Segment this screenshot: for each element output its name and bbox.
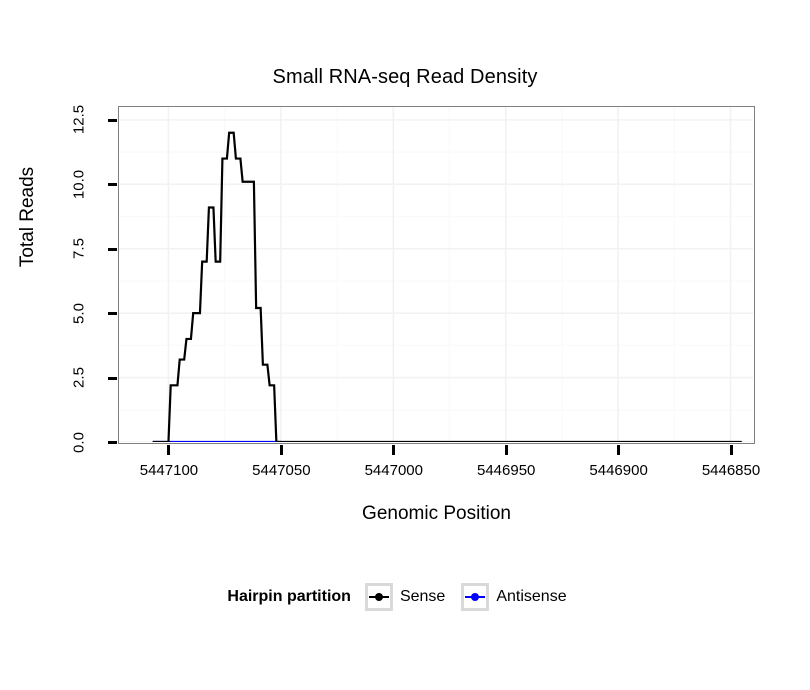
- chart-figure: Small RNA-seq Read Density Total Reads 0…: [0, 0, 810, 690]
- x-tick-label: 5447000: [334, 462, 454, 479]
- legend-item-antisense[interactable]: Antisense: [461, 583, 566, 611]
- chart-legend: Hairpin partition SenseAntisense: [0, 583, 810, 611]
- y-tick-mark: [108, 248, 117, 251]
- legend-key-icon: [461, 583, 489, 611]
- x-tick-label: 5446850: [671, 462, 791, 479]
- y-tick-mark: [108, 183, 117, 186]
- legend-point-icon: [375, 593, 383, 601]
- legend-item-sense[interactable]: Sense: [365, 583, 445, 611]
- x-tick-mark: [730, 445, 733, 455]
- legend-label: Antisense: [496, 588, 566, 606]
- plot-panel: [118, 106, 755, 444]
- plot-area: [119, 107, 753, 442]
- x-axis-label: Genomic Position: [118, 503, 755, 525]
- chart-title: Small RNA-seq Read Density: [0, 66, 810, 89]
- y-tick-mark: [108, 377, 117, 380]
- y-axis-label: Total Reads: [17, 127, 39, 307]
- y-tick-mark: [108, 119, 117, 122]
- x-tick-label: 5446900: [559, 462, 679, 479]
- x-tick-mark: [167, 445, 170, 455]
- legend-label: Sense: [400, 588, 445, 606]
- x-tick-label: 5446950: [446, 462, 566, 479]
- x-tick-label: 5447100: [109, 462, 229, 479]
- x-tick-mark: [392, 445, 395, 455]
- legend-point-icon: [471, 593, 479, 601]
- x-tick-mark: [280, 445, 283, 455]
- legend-title: Hairpin partition: [227, 588, 351, 606]
- y-tick-mark: [108, 441, 117, 444]
- legend-items: SenseAntisense: [365, 583, 583, 611]
- x-tick-mark: [505, 445, 508, 455]
- y-tick-mark: [108, 312, 117, 315]
- legend-key-icon: [365, 583, 393, 611]
- x-tick-label: 5447050: [221, 462, 341, 479]
- x-tick-mark: [617, 445, 620, 455]
